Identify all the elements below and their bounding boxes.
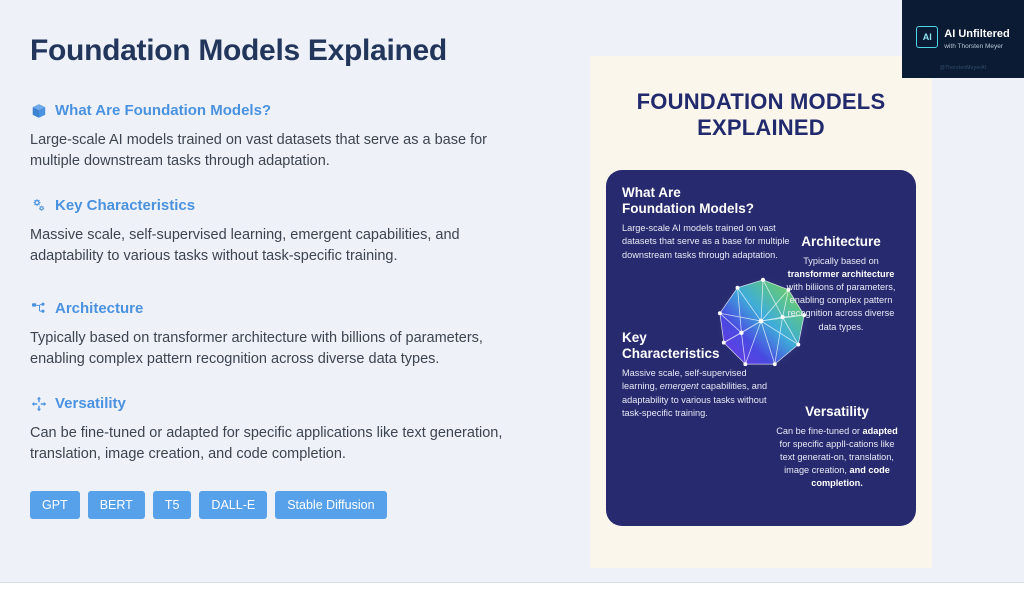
tag-bert[interactable]: BERT [88, 491, 145, 519]
sitemap-icon [30, 300, 47, 317]
logo-text-group: AI Unfiltered with Thorsten Meyer [944, 24, 1009, 51]
card-block-heading: What Are Foundation Models? [622, 185, 792, 217]
body-bold-1: adapted [863, 426, 898, 436]
section-heading-label: What Are Foundation Models? [55, 102, 271, 119]
section-heading-label: Key Characteristics [55, 197, 195, 214]
card-block-architecture: Architecture Typically based on transfor… [780, 234, 902, 334]
section-what-are-foundation-models: What Are Foundation Models? Large-scale … [30, 102, 530, 171]
card-block-heading: Versatility [772, 404, 902, 420]
cube-icon [30, 102, 47, 119]
tag-t5[interactable]: T5 [153, 491, 192, 519]
logo-lockup: AI AI Unfiltered with Thorsten Meyer [916, 24, 1009, 51]
body-bold: transformer architecture [788, 269, 895, 279]
tag-dall-e[interactable]: DALL-E [199, 491, 267, 519]
card-block-body: Typically based on transformer architect… [780, 255, 902, 333]
left-content-panel: Foundation Models Explained What Are Fou… [0, 0, 560, 582]
footer-strip [0, 582, 1024, 596]
section-heading-row: Versatility [30, 395, 530, 412]
card-block-body: Large-scale AI models trained on vast da… [622, 222, 792, 261]
chip-label: AI [923, 32, 932, 42]
section-heading-row: Key Characteristics [30, 197, 530, 214]
section-heading-label: Architecture [55, 300, 143, 317]
section-versatility: Versatility Can be fine-tuned or adapted… [30, 395, 530, 464]
arrows-move-icon [30, 395, 47, 412]
section-key-characteristics: Key Characteristics Massive scale, self-… [30, 197, 530, 266]
card-block-key-characteristics: Key Characteristics Massive scale, self-… [622, 330, 774, 420]
page-title: Foundation Models Explained [30, 34, 530, 68]
card-block-heading: Architecture [780, 234, 902, 250]
ai-chip-icon: AI [916, 26, 938, 48]
channel-logo-badge: AI AI Unfiltered with Thorsten Meyer @Th… [902, 0, 1024, 78]
infographic-title: FOUNDATION MODELS EXPLAINED [590, 56, 932, 140]
card-block-body: Can be fine-tuned or adapted for specifi… [772, 425, 902, 490]
body-part-1: Typically based on [803, 256, 879, 266]
logo-name: AI Unfiltered [944, 28, 1009, 40]
card-block-body: Massive scale, self-supervised learning,… [622, 367, 774, 419]
heading-line-1: What Are [622, 185, 681, 200]
tag-gpt[interactable]: GPT [30, 491, 80, 519]
card-block-heading: Key Characteristics [622, 330, 774, 362]
body-part-1: Can be fine-tuned or [776, 426, 862, 436]
body-emphasis: emergent [660, 381, 699, 391]
cogs-icon [30, 197, 47, 214]
section-heading-label: Versatility [55, 395, 126, 412]
section-body-text: Typically based on transformer architect… [30, 328, 510, 369]
tag-stable-diffusion[interactable]: Stable Diffusion [275, 491, 386, 519]
logo-handle: @ThorstenMeyerAI [902, 65, 1024, 71]
infographic-panel: FOUNDATION MODELS EXPLAINED [590, 56, 932, 568]
section-heading-row: Architecture [30, 300, 530, 317]
heading-line-2: Characteristics [622, 346, 720, 361]
section-architecture: Architecture Typically based on transfor… [30, 300, 530, 369]
infographic-card: What Are Foundation Models? Large-scale … [606, 170, 916, 526]
heading-line-1: Key [622, 330, 647, 345]
section-body-text: Large-scale AI models trained on vast da… [30, 130, 510, 171]
section-body-text: Can be fine-tuned or adapted for specifi… [30, 423, 510, 464]
logo-tagline: with Thorsten Meyer [944, 43, 1009, 51]
heading-line-2: Foundation Models? [622, 201, 754, 216]
model-tag-list: GPT BERT T5 DALL-E Stable Diffusion [30, 491, 530, 519]
section-heading-row: What Are Foundation Models? [30, 102, 530, 119]
card-block-what-are-foundation-models: What Are Foundation Models? Large-scale … [622, 185, 792, 262]
body-part-2: with biliions of parameters, enabling co… [787, 282, 896, 331]
section-body-text: Massive scale, self-supervised learning,… [30, 225, 510, 266]
card-block-versatility: Versatility Can be fine-tuned or adapted… [772, 404, 902, 491]
slide-canvas: Foundation Models Explained What Are Fou… [0, 0, 1024, 596]
